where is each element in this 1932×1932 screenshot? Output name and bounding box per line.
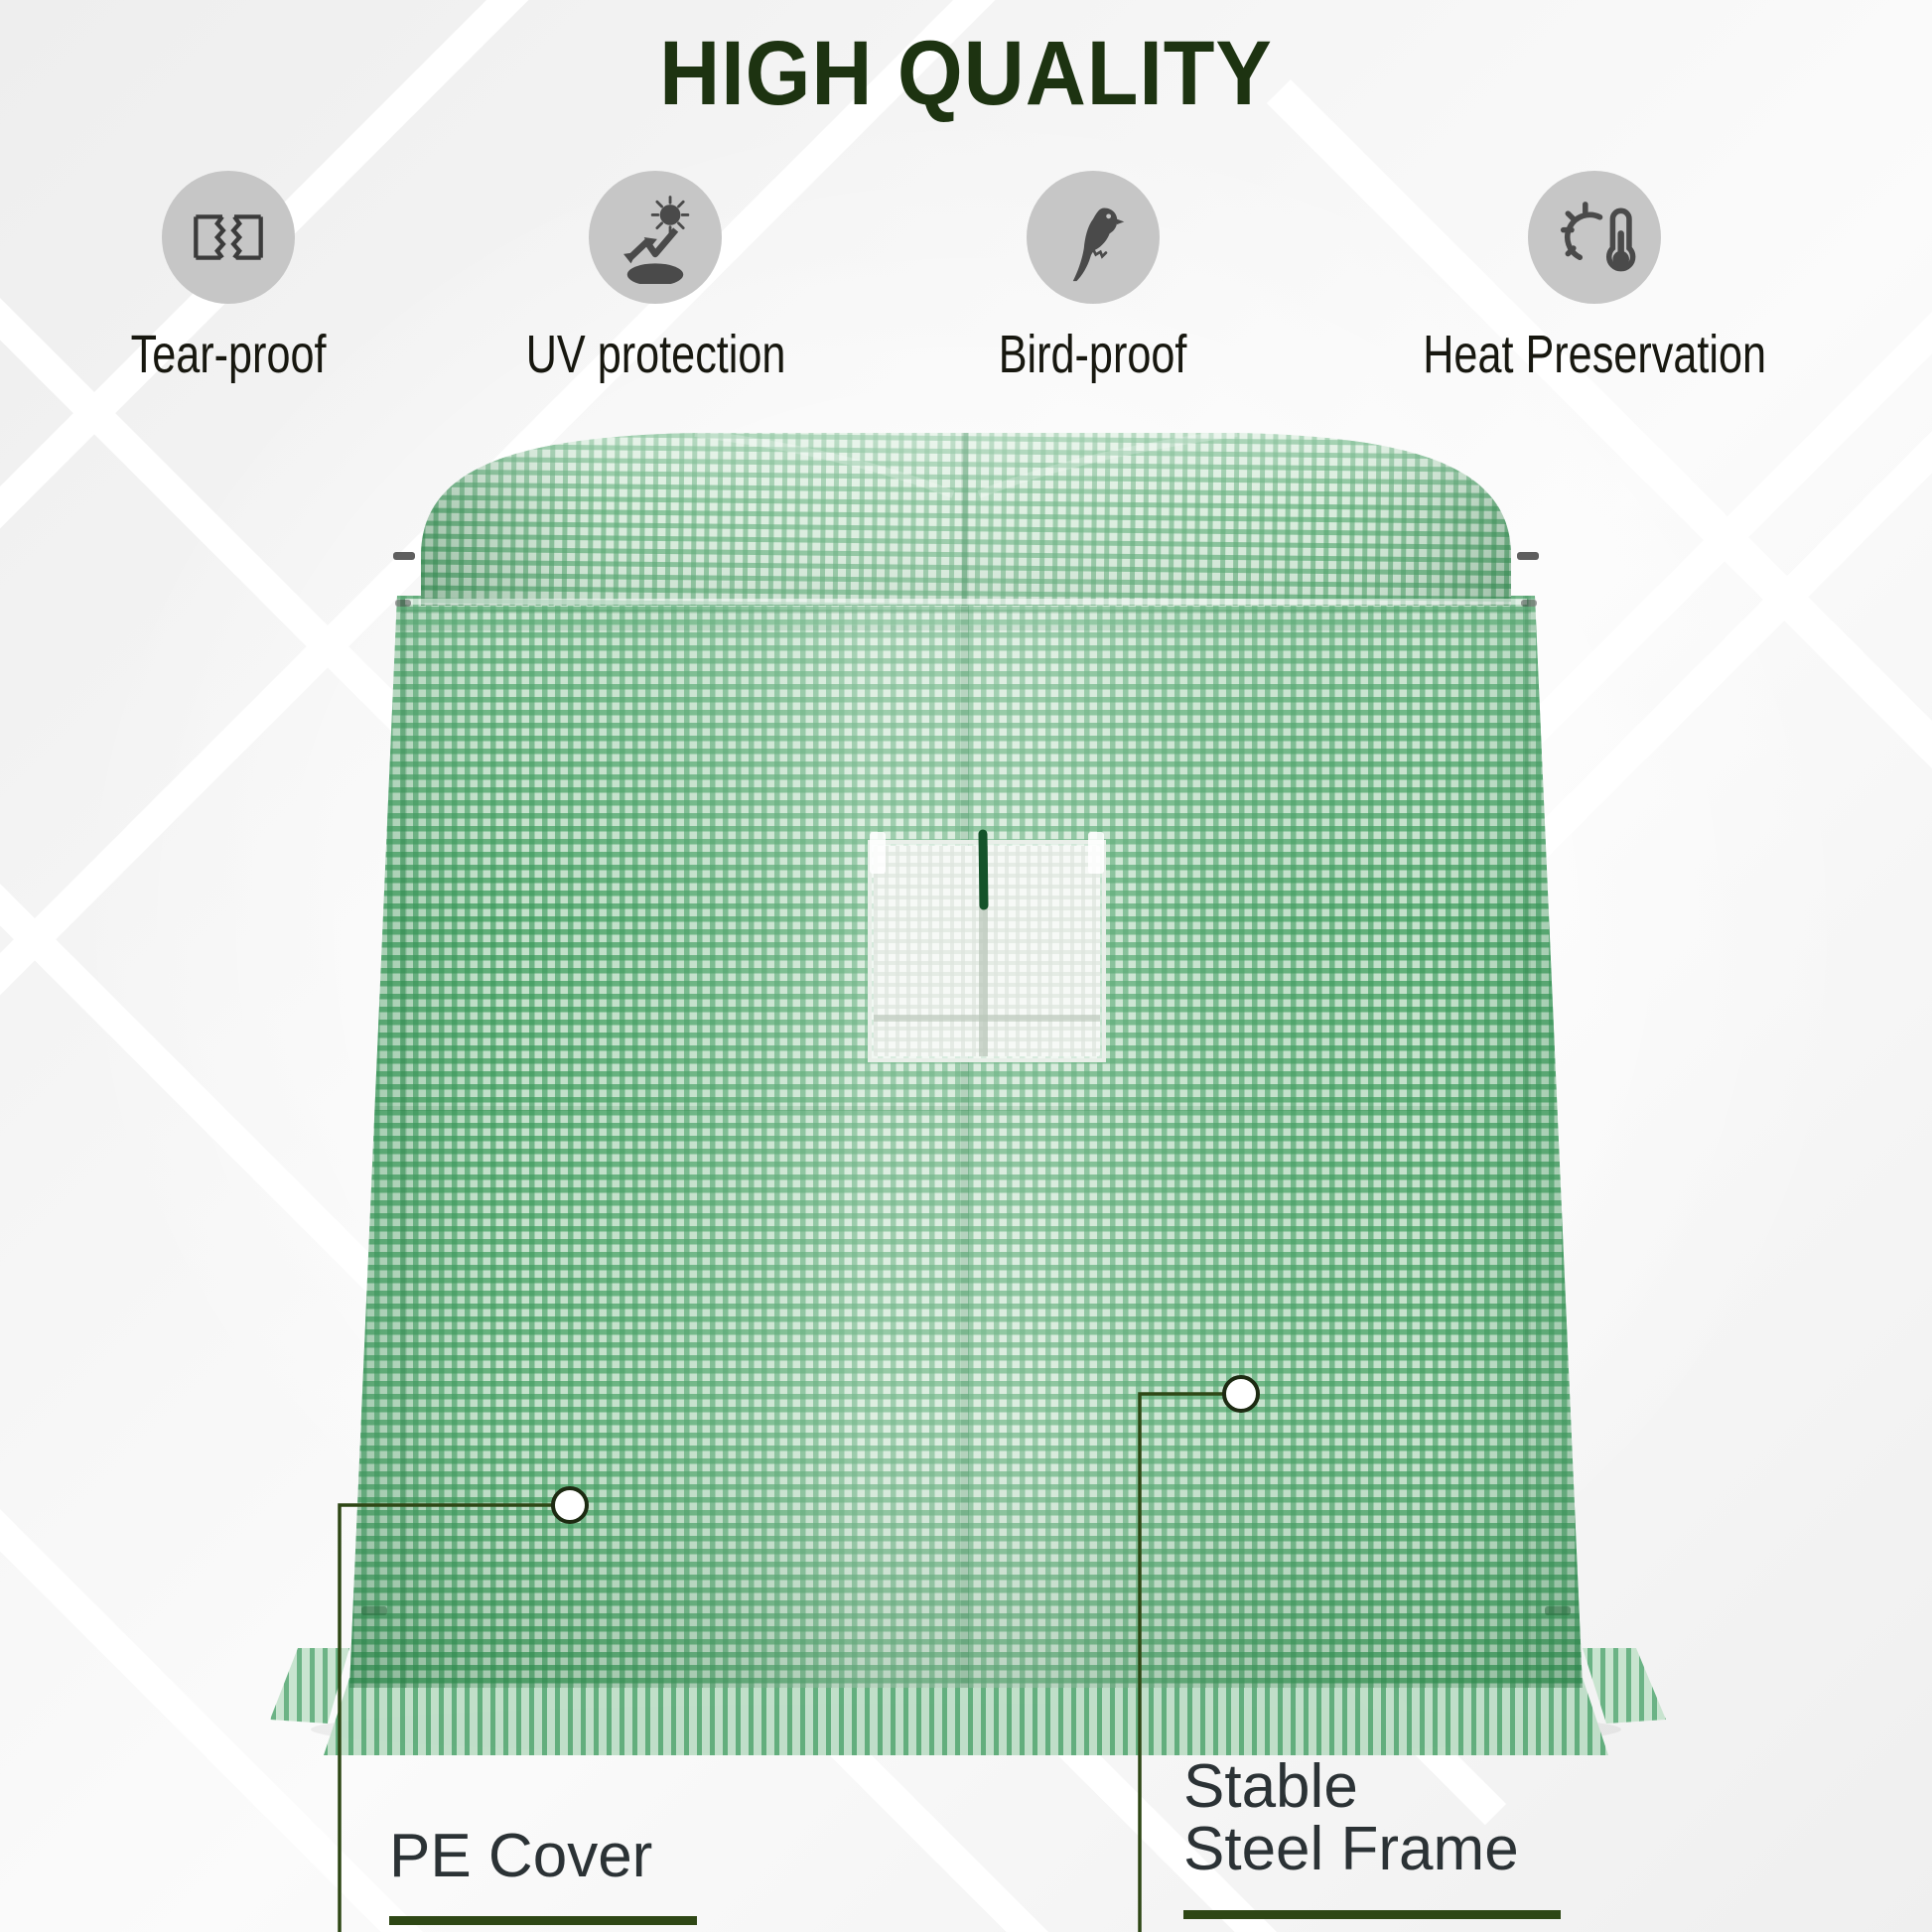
- heat-preservation-icon: [1528, 171, 1661, 304]
- feature-label: UV protection: [525, 324, 785, 385]
- callout-underline-pe-cover: [389, 1916, 697, 1925]
- feature-label: Heat Preservation: [1423, 324, 1766, 385]
- feature-label: Tear-proof: [131, 324, 327, 385]
- feature-list: Tear-proof: [60, 171, 1872, 385]
- feature-item-bird-proof: Bird-proof: [914, 171, 1272, 385]
- callout-label-steel-frame: Stable Steel Frame: [1183, 1755, 1519, 1880]
- feature-item-uv-protection: UV protection: [442, 171, 869, 385]
- callout-label-pe-cover: PE Cover: [389, 1825, 652, 1887]
- uv-protection-icon: [589, 171, 722, 304]
- feature-item-heat-preservation: Heat Preservation: [1316, 171, 1872, 385]
- tear-proof-icon: [162, 171, 295, 304]
- callout-underline-steel-frame: [1183, 1910, 1561, 1919]
- bird-proof-icon: [1027, 171, 1160, 304]
- feature-label: Bird-proof: [999, 324, 1187, 385]
- page-title: HIGH QUALITY: [77, 22, 1855, 126]
- feature-item-tear-proof: Tear-proof: [60, 171, 397, 385]
